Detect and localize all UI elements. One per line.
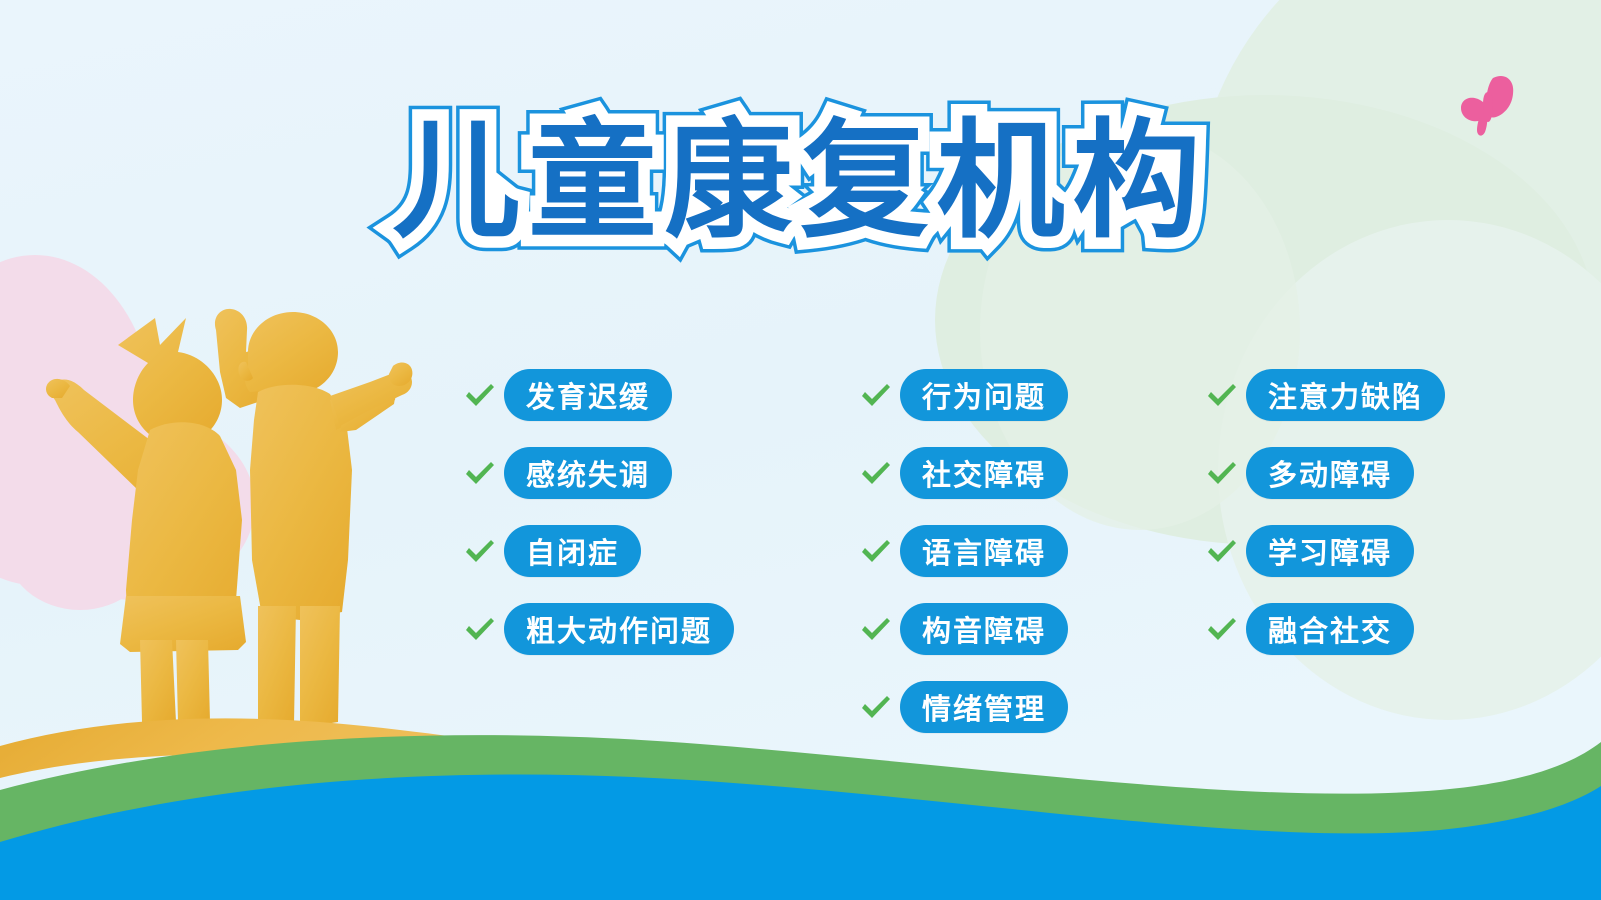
service-tag[interactable]: 语言障碍: [900, 525, 1068, 577]
service-tag[interactable]: 学习障碍: [1246, 525, 1414, 577]
check-icon: [858, 456, 892, 490]
tag-row[interactable]: 情绪管理: [858, 668, 1068, 746]
poster-canvas: 儿童康复机构 儿童康复机构 儿童康复机构 发育迟缓 感统失调 自闭症 粗大动作问…: [0, 0, 1601, 900]
check-icon: [462, 456, 496, 490]
service-tag[interactable]: 自闭症: [504, 525, 641, 577]
service-tag[interactable]: 注意力缺陷: [1246, 369, 1445, 421]
service-tag[interactable]: 融合社交: [1246, 603, 1414, 655]
tag-row[interactable]: 感统失调: [462, 434, 734, 512]
service-tag[interactable]: 粗大动作问题: [504, 603, 734, 655]
tag-row[interactable]: 发育迟缓: [462, 356, 734, 434]
check-icon: [858, 534, 892, 568]
tag-column-2: 行为问题 社交障碍 语言障碍 构音障碍 情绪管理: [858, 356, 1068, 746]
check-icon: [858, 690, 892, 724]
check-icon: [1204, 612, 1238, 646]
service-tag[interactable]: 情绪管理: [900, 681, 1068, 733]
tag-row[interactable]: 粗大动作问题: [462, 590, 734, 668]
service-tag[interactable]: 感统失调: [504, 447, 672, 499]
tag-row[interactable]: 学习障碍: [1204, 512, 1445, 590]
check-icon: [858, 612, 892, 646]
check-icon: [1204, 456, 1238, 490]
tag-row[interactable]: 多动障碍: [1204, 434, 1445, 512]
tag-column-3: 注意力缺陷 多动障碍 学习障碍 融合社交: [1204, 356, 1445, 668]
tag-row[interactable]: 构音障碍: [858, 590, 1068, 668]
check-icon: [462, 612, 496, 646]
check-icon: [858, 378, 892, 412]
tag-row[interactable]: 行为问题: [858, 356, 1068, 434]
service-tag[interactable]: 社交障碍: [900, 447, 1068, 499]
tag-row[interactable]: 社交障碍: [858, 434, 1068, 512]
check-icon: [1204, 534, 1238, 568]
service-tag[interactable]: 行为问题: [900, 369, 1068, 421]
service-tag[interactable]: 发育迟缓: [504, 369, 672, 421]
service-tag-columns: 发育迟缓 感统失调 自闭症 粗大动作问题 行为问题 社交障: [0, 0, 1601, 900]
tag-row[interactable]: 自闭症: [462, 512, 734, 590]
tag-row[interactable]: 融合社交: [1204, 590, 1445, 668]
tag-row[interactable]: 语言障碍: [858, 512, 1068, 590]
service-tag[interactable]: 构音障碍: [900, 603, 1068, 655]
tag-column-1: 发育迟缓 感统失调 自闭症 粗大动作问题: [462, 356, 734, 668]
tag-row[interactable]: 注意力缺陷: [1204, 356, 1445, 434]
service-tag[interactable]: 多动障碍: [1246, 447, 1414, 499]
check-icon: [462, 534, 496, 568]
check-icon: [462, 378, 496, 412]
check-icon: [1204, 378, 1238, 412]
